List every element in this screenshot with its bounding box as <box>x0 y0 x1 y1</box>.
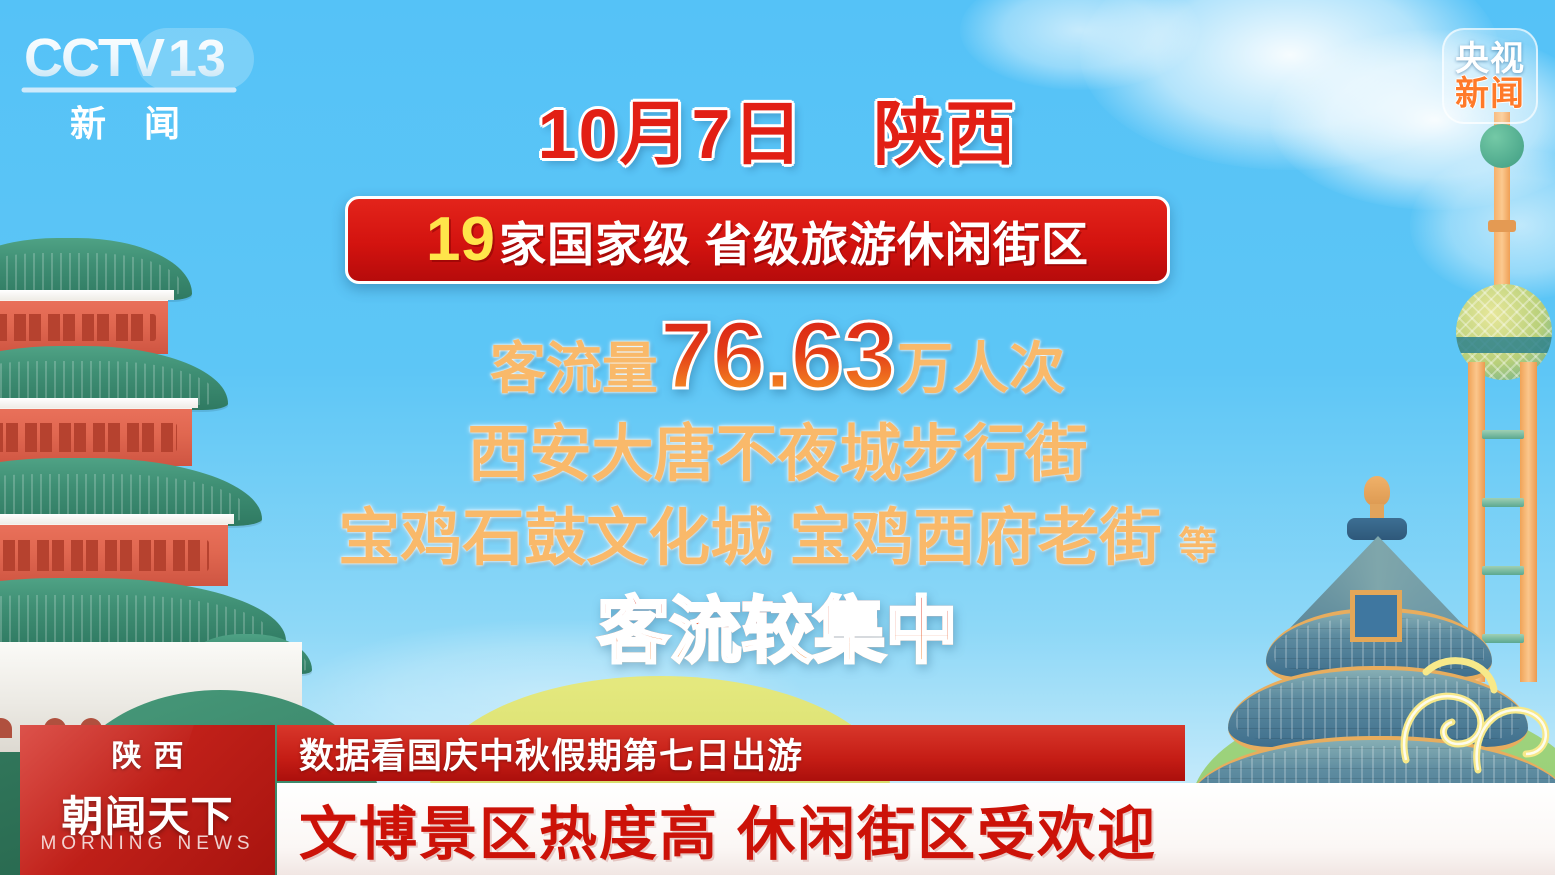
street-name-line-1: 西安大唐不夜城步行街 <box>0 424 1555 486</box>
program-logo-block: 陕西 朝闻天下 MORNING NEWS <box>20 725 275 875</box>
watermark-line-1: 央视 <box>1455 42 1525 76</box>
street-name-line-2: 宝鸡石鼓文化城 宝鸡西府老街 等 <box>0 508 1555 570</box>
street-names: 宝鸡石鼓文化城 宝鸡西府老街 <box>338 504 1161 573</box>
program-name-en: MORNING NEWS <box>20 833 275 855</box>
date-province-heading: 10月7日 陕西 <box>0 78 1555 179</box>
lower-third: 陕西 朝闻天下 MORNING NEWS 数据看国庆中秋假期第七日出游 文博景区… <box>20 725 1555 875</box>
broadcast-screen: CCTV 13 新 闻 央视 新闻 10月7日 陕西 19 家国家级 省级旅游休… <box>0 0 1555 875</box>
date-text: 10月7日 <box>538 95 805 173</box>
cloud-wisp <box>960 0 1200 90</box>
passenger-flow-row: 客流量 76.63 万人次 <box>0 308 1555 404</box>
flow-label: 客流量 <box>490 341 658 397</box>
banner-number: 19 <box>426 209 495 271</box>
lower-third-headline: 文博景区热度高 休闲街区受欢迎 <box>277 783 1555 875</box>
province-text: 陕西 <box>873 95 1017 173</box>
banner-label: 家国家级 省级旅游休闲街区 <box>499 206 1089 275</box>
region-label: 陕西 <box>20 725 275 781</box>
street-etc-suffix: 等 <box>1179 526 1217 568</box>
street-count-banner: 19 家国家级 省级旅游休闲街区 <box>345 196 1170 284</box>
flow-unit: 万人次 <box>897 341 1065 397</box>
conclusion-text: 客流较集中 <box>0 596 1555 668</box>
lower-third-subtitle: 数据看国庆中秋假期第七日出游 <box>277 725 1185 781</box>
flow-value: 76.63 <box>660 308 895 404</box>
